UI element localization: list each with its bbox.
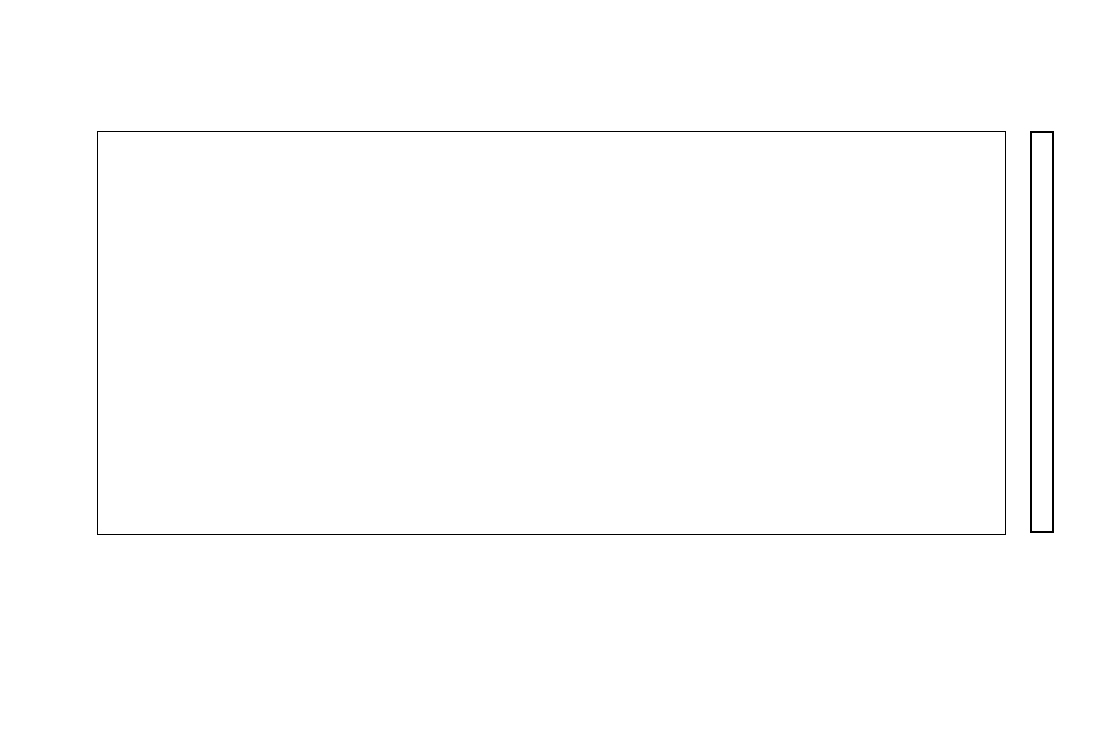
heatmap-canvas: [98, 132, 1005, 534]
heatmap-plot-area[interactable]: [97, 131, 1006, 535]
colorbar-gradient: [1032, 133, 1052, 531]
data-gap-marker: [646, 177, 653, 195]
colorbar[interactable]: [1030, 131, 1054, 533]
